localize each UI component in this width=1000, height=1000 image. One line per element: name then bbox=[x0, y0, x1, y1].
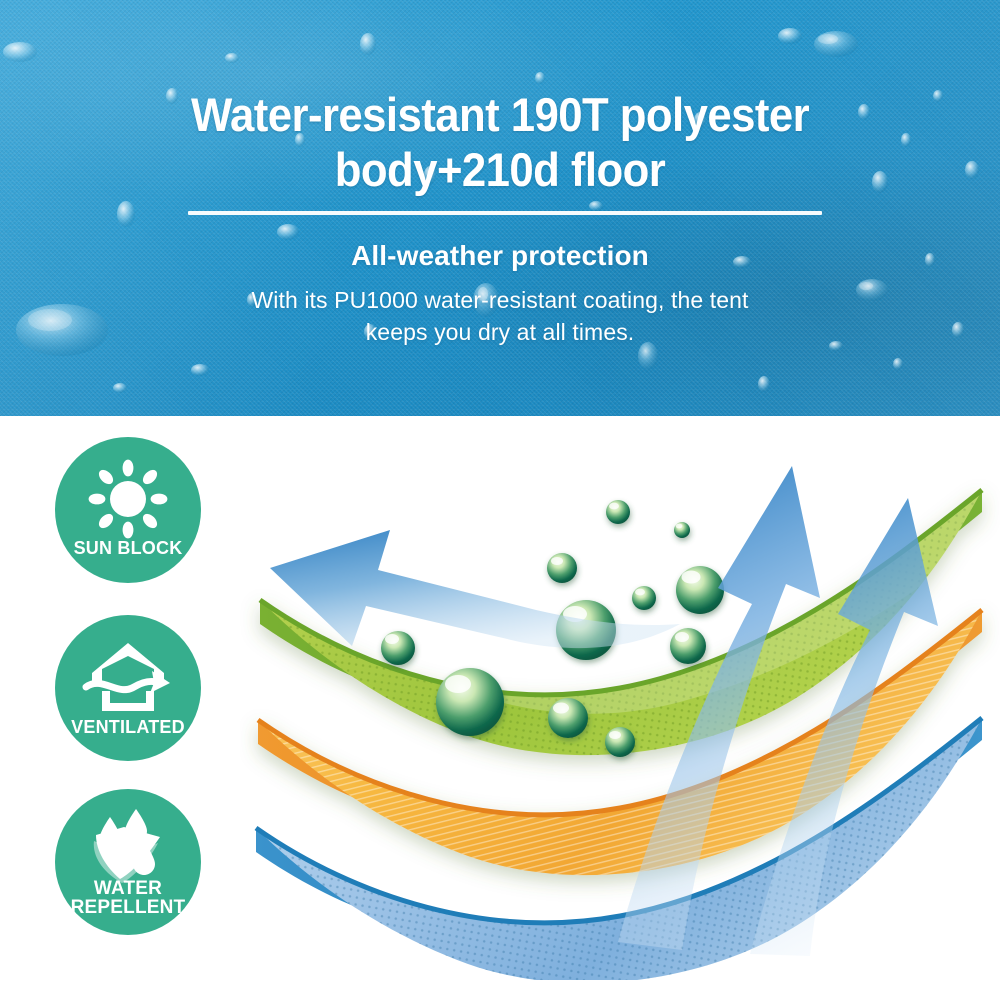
fabric-droplets-icon bbox=[78, 807, 178, 889]
feature-badge-water-repellent: WATERREPELLENT bbox=[55, 789, 201, 935]
feature-badge-ventilated: VENTILATED bbox=[55, 615, 201, 761]
product-feature-infographic: Water-resistant 190T polyester body+210d… bbox=[0, 0, 1000, 1000]
page-title: Water-resistant 190T polyester body+210d… bbox=[128, 88, 872, 198]
feature-badge-label: WATERREPELLENT bbox=[55, 879, 201, 918]
fabric-layers-illustration bbox=[240, 420, 1000, 980]
hero-banner: Water-resistant 190T polyester body+210d… bbox=[0, 0, 1000, 416]
house-airflow-icon bbox=[78, 639, 178, 715]
banner-subheading: All-weather protection bbox=[150, 240, 850, 272]
banner-description: With its PU1000 water-resistant coating,… bbox=[150, 285, 850, 348]
title-divider bbox=[188, 211, 822, 215]
feature-badge-label: VENTILATED bbox=[55, 718, 201, 737]
water-droplets-overlay bbox=[0, 0, 1000, 416]
sun-icon bbox=[82, 459, 174, 539]
fabric-weave-texture bbox=[0, 0, 1000, 416]
feature-badge-label: SUN BLOCK bbox=[55, 539, 201, 558]
fabric-sheen bbox=[0, 0, 1000, 416]
arrow-left bbox=[270, 530, 680, 648]
feature-badge-sun-block: SUN BLOCK bbox=[55, 437, 201, 583]
